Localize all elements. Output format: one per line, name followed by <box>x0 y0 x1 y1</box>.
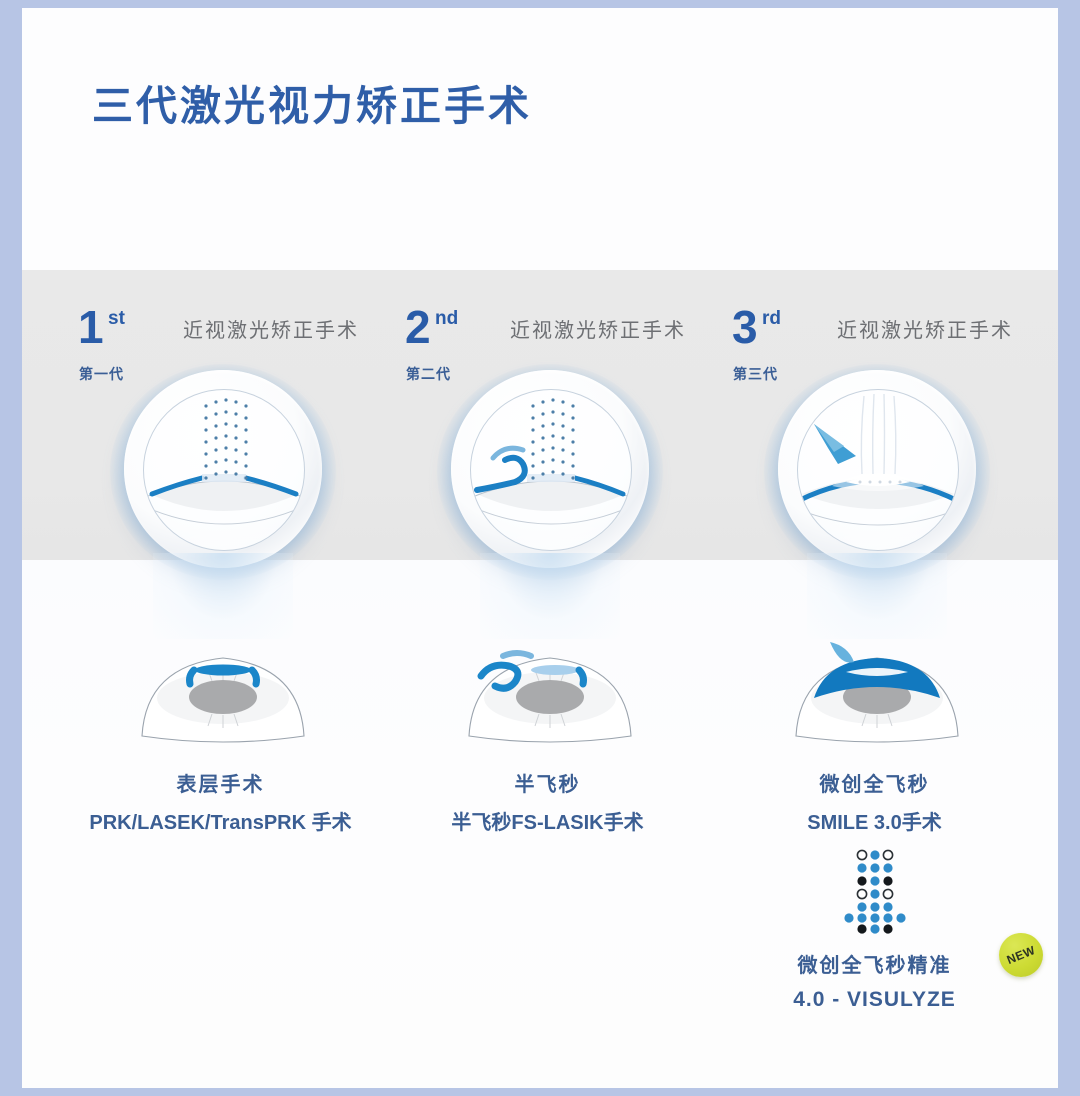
generation-label-cn: 第三代 <box>733 364 778 384</box>
lens-glow <box>480 553 620 639</box>
generation-heading: 近视激光矫正手术 <box>183 314 359 343</box>
generation-label-cn: 第一代 <box>79 364 124 384</box>
infographic-card: 三代激光视力矫正手术 1 st 第一代 近视激光矫正手术 <box>22 8 1058 1088</box>
column-label-primary: 半飞秒 <box>375 768 720 797</box>
column-generation-2: 2 nd 第二代 近视激光矫正手术 <box>375 8 720 1088</box>
generation-number: 2 <box>405 304 431 350</box>
generation-heading: 近视激光矫正手术 <box>837 314 1013 343</box>
generation-heading: 近视激光矫正手术 <box>510 314 686 343</box>
generation-number: 1 <box>78 304 104 350</box>
generation-ordinal: st <box>108 308 125 330</box>
eye-cross-section-surface-icon <box>124 636 322 744</box>
generation-number: 3 <box>732 304 758 350</box>
magnifier-cornea-flap-lifted-icon <box>451 370 649 568</box>
generation-ordinal: nd <box>435 308 458 330</box>
generation-label-cn: 第二代 <box>406 364 451 384</box>
generation-ordinal: rd <box>762 308 781 330</box>
down-arrow-dot-matrix-icon <box>702 848 1047 936</box>
extra-label-secondary: 4.0 - VISULYZE <box>702 988 1047 1012</box>
column-label-primary: 表层手术 <box>48 768 393 797</box>
column-generation-3: 3 rd 第三代 近视激光矫正手术 <box>702 8 1047 1088</box>
eye-cross-section-flap-icon <box>451 636 649 744</box>
column-label-secondary: SMILE 3.0手术 <box>702 806 1047 835</box>
column-label-primary: 微创全飞秒 <box>702 768 1047 797</box>
infographic-page: 三代激光视力矫正手术 1 st 第一代 近视激光矫正手术 <box>0 0 1080 1096</box>
column-label-secondary: 半飞秒FS-LASIK手术 <box>375 806 720 835</box>
magnifier-cornea-lenticule-blade-icon <box>778 370 976 568</box>
extra-label-primary: 微创全飞秒精准 <box>702 949 1047 978</box>
lens-glow <box>807 553 947 639</box>
eye-cross-section-intact-blade-icon <box>778 636 976 744</box>
column-label-secondary: PRK/LASEK/TransPRK 手术 <box>48 806 393 835</box>
new-badge: NEW <box>999 933 1043 977</box>
magnifier-cornea-surface-ablation-icon <box>124 370 322 568</box>
lens-glow <box>153 553 293 639</box>
column-generation-1: 1 st 第一代 近视激光矫正手术 <box>48 8 393 1088</box>
